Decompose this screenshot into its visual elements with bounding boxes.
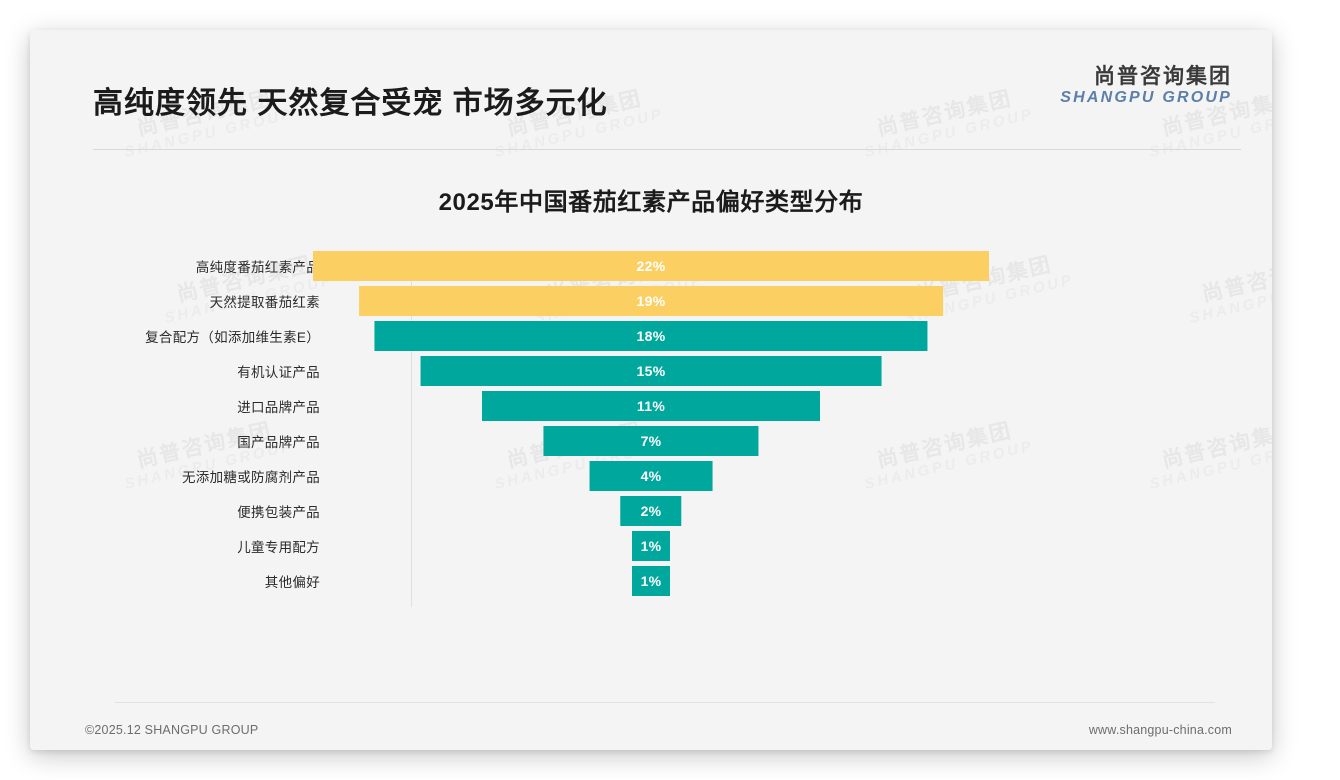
funnel-row: 高纯度番茄红素产品22% (30, 251, 1272, 281)
funnel-bar[interactable]: 4% (590, 461, 713, 491)
funnel-bar[interactable]: 22% (313, 251, 989, 281)
category-label: 进口品牌产品 (237, 396, 320, 416)
funnel-row: 儿童专用配方1% (30, 531, 1272, 561)
funnel-bar[interactable]: 15% (421, 356, 882, 386)
funnel-row: 天然提取番茄红素19% (30, 286, 1272, 316)
category-label: 复合配方（如添加维生素E） (145, 326, 320, 346)
category-label: 其他偏好 (265, 571, 320, 591)
funnel-row: 复合配方（如添加维生素E）18% (30, 321, 1272, 351)
funnel-bar[interactable]: 18% (374, 321, 927, 351)
bar-value-label: 19% (637, 293, 666, 309)
slide-header: 高纯度领先 天然复合受宠 市场多元化 尚普咨询集团 SHANGPU GROUP (30, 30, 1272, 135)
bar-value-label: 7% (641, 433, 662, 449)
category-label: 儿童专用配方 (237, 536, 320, 556)
category-label: 国产品牌产品 (237, 431, 320, 451)
category-label: 无添加糖或防腐剂产品 (182, 466, 320, 486)
funnel-bar[interactable]: 1% (632, 566, 670, 596)
funnel-row: 其他偏好1% (30, 566, 1272, 596)
funnel-bar[interactable]: 1% (632, 531, 670, 561)
funnel-chart: 高纯度番茄红素产品22%天然提取番茄红素19%复合配方（如添加维生素E）18%有… (30, 251, 1272, 611)
slide-footer: ©2025.12 SHANGPU GROUP www.shangpu-china… (30, 714, 1272, 750)
funnel-row: 国产品牌产品7% (30, 426, 1272, 456)
category-label: 天然提取番茄红素 (210, 291, 320, 311)
brand-logo-cn: 尚普咨询集团 (1060, 66, 1232, 89)
brand-logo-en: SHANGPU GROUP (1060, 89, 1232, 106)
header-divider (93, 149, 1241, 150)
bar-value-label: 11% (637, 398, 665, 414)
category-label: 高纯度番茄红素产品 (196, 256, 320, 276)
funnel-bar[interactable]: 19% (359, 286, 943, 316)
footnote-divider (115, 702, 1215, 703)
bar-value-label: 22% (637, 258, 666, 274)
chart-title: 2025年中国番茄红素产品偏好类型分布 (30, 182, 1272, 217)
slide-card: 尚普咨询集团SHANGPU GROUP尚普咨询集团SHANGPU GROUP尚普… (30, 30, 1272, 750)
footer-copyright: ©2025.12 SHANGPU GROUP (85, 723, 258, 737)
funnel-rows: 高纯度番茄红素产品22%天然提取番茄红素19%复合配方（如添加维生素E）18%有… (30, 251, 1272, 596)
funnel-bar[interactable]: 11% (482, 391, 820, 421)
brand-logo: 尚普咨询集团 SHANGPU GROUP (1060, 66, 1232, 106)
funnel-row: 无添加糖或防腐剂产品4% (30, 461, 1272, 491)
funnel-row: 便携包装产品2% (30, 496, 1272, 526)
bar-value-label: 1% (641, 538, 662, 554)
category-label: 有机认证产品 (237, 361, 320, 381)
bar-value-label: 2% (641, 503, 662, 519)
funnel-row: 有机认证产品15% (30, 356, 1272, 386)
funnel-bar[interactable]: 2% (620, 496, 681, 526)
page-title: 高纯度领先 天然复合受宠 市场多元化 (93, 78, 608, 122)
bar-value-label: 4% (641, 468, 662, 484)
chart-area: 2025年中国番茄红素产品偏好类型分布 高纯度番茄红素产品22%天然提取番茄红素… (30, 160, 1272, 611)
footer-url[interactable]: www.shangpu-china.com (1089, 723, 1232, 737)
funnel-bar[interactable]: 7% (543, 426, 758, 456)
bar-value-label: 1% (641, 573, 662, 589)
category-label: 便携包装产品 (237, 501, 320, 521)
bar-value-label: 15% (637, 363, 666, 379)
bar-value-label: 18% (637, 328, 666, 344)
funnel-row: 进口品牌产品11% (30, 391, 1272, 421)
